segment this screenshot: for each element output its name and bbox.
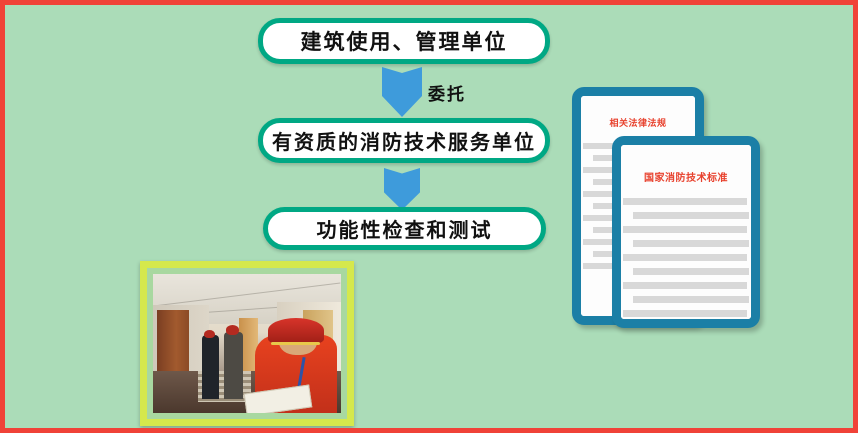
flow-step-label-3: 功能性检查和测试 xyxy=(317,214,493,243)
document-text-line xyxy=(623,310,747,317)
slide-canvas: 建筑使用、管理单位 委托 有资质的消防技术服务单位 功能性检查和测试 相关法律法… xyxy=(0,0,858,433)
document-text-line xyxy=(633,240,749,247)
document-page-front: 国家消防技术标准 xyxy=(621,145,751,319)
document-text-line xyxy=(623,282,747,289)
flow-step-box-2[interactable]: 有资质的消防技术服务单位 xyxy=(258,118,550,163)
photo-inspector-helmet-icon xyxy=(268,318,324,343)
down-arrow-icon-2 xyxy=(384,168,420,210)
document-text-line xyxy=(623,254,747,261)
flow-step-box-3[interactable]: 功能性检查和测试 xyxy=(263,207,546,250)
photo-helmet-icon-1 xyxy=(204,330,215,338)
inspection-photo xyxy=(153,274,341,413)
document-text-line xyxy=(623,198,747,205)
document-text-line xyxy=(623,226,747,233)
document-text-line xyxy=(633,296,749,303)
flow-step-label-1: 建筑使用、管理单位 xyxy=(301,26,508,56)
document-text-line xyxy=(633,268,749,275)
document-text-line xyxy=(633,212,749,219)
document-title-back: 相关法律法规 xyxy=(581,116,695,129)
document-text-lines-front xyxy=(621,198,751,328)
photo-helmet-icon-2 xyxy=(226,325,239,335)
connector-caption-1: 委托 xyxy=(428,80,466,105)
document-card-standards[interactable]: 国家消防技术标准 xyxy=(612,136,760,328)
flow-step-box-1[interactable]: 建筑使用、管理单位 xyxy=(258,18,550,64)
photo-frame xyxy=(140,261,354,426)
photo-helmet-strap xyxy=(271,342,320,345)
down-arrow-icon-1 xyxy=(382,67,422,117)
document-title-front: 国家消防技术标准 xyxy=(621,169,751,184)
document-text-line xyxy=(633,324,749,328)
photo-person-distant-2 xyxy=(224,332,243,399)
flow-step-label-2: 有资质的消防技术服务单位 xyxy=(272,126,536,155)
photo-person-distant-1 xyxy=(202,335,219,399)
